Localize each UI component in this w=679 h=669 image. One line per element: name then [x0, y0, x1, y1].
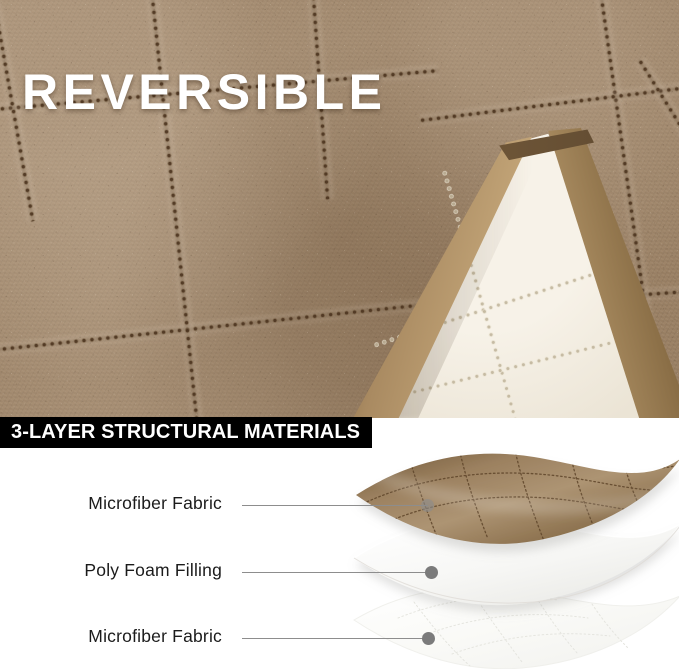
leader-line	[242, 505, 428, 506]
leader-dot	[422, 632, 435, 645]
hero-photo: REVERSIBLE	[0, 0, 679, 418]
leader-dot	[421, 499, 434, 512]
product-infographic: REVERSIBLE 3-LAYER STRUCTURAL MATERIALS	[0, 0, 679, 669]
layer-diagram: Microfiber Fabric Poly Foam Filling Micr…	[0, 448, 679, 669]
callout-label: Microfiber Fabric	[88, 493, 222, 514]
section-banner: 3-LAYER STRUCTURAL MATERIALS	[0, 417, 372, 448]
page-title: REVERSIBLE	[22, 67, 387, 117]
folded-corner-flap	[352, 128, 679, 418]
leader-dot	[425, 566, 438, 579]
leader-line	[242, 638, 429, 639]
leader-line	[242, 572, 432, 573]
top-microfiber-layer	[352, 443, 679, 549]
section-banner-title: 3-LAYER STRUCTURAL MATERIALS	[0, 421, 360, 444]
callout-label: Microfiber Fabric	[88, 626, 222, 647]
callout-label: Poly Foam Filling	[84, 560, 222, 581]
